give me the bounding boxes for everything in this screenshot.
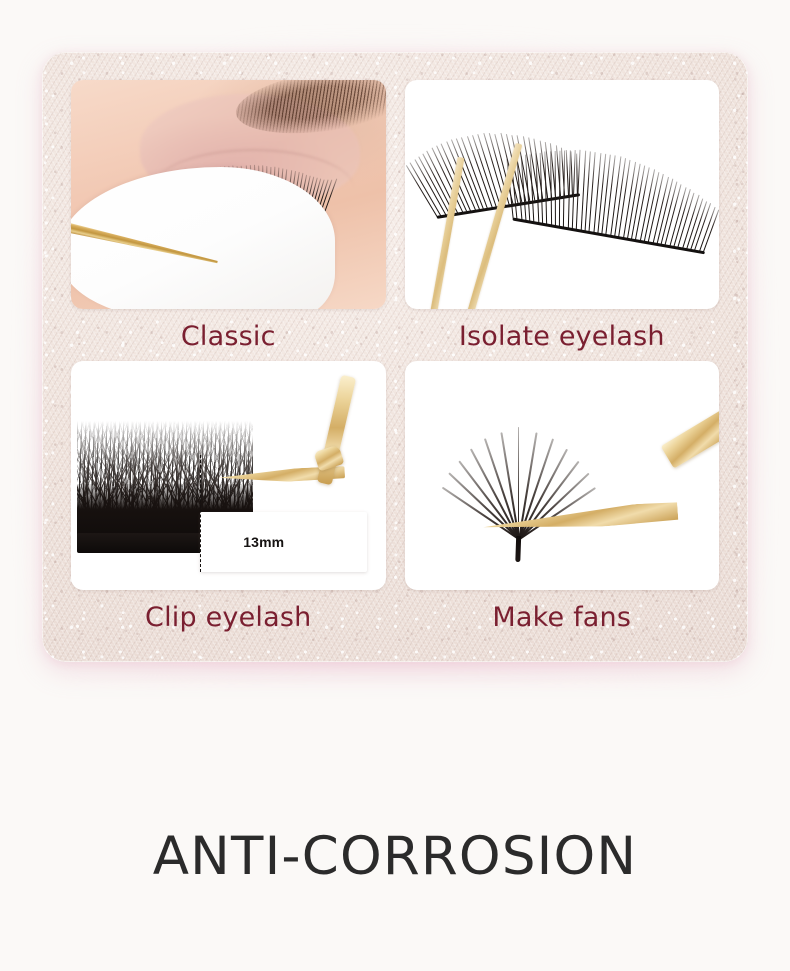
feature-cell-clip-eyelash[interactable]: 13mm Clip eyelash: [71, 361, 386, 642]
lash-hair: [441, 487, 518, 540]
lash-strips-with-bamboo-sticks-photo: [405, 80, 720, 309]
lash-hair: [572, 150, 576, 229]
lash-hair: [563, 150, 566, 227]
lash-hair: [530, 154, 535, 222]
lash-hair: [535, 153, 539, 223]
lash-strip-lower: [512, 139, 718, 254]
lash-hair: [576, 150, 581, 230]
tweezer-fan-shank: [661, 408, 719, 469]
feature-grid: Classic Isolate eyelash: [42, 52, 748, 662]
feature-label-make-fans: Make fans: [492, 590, 631, 642]
feature-cell-make-fans[interactable]: Make fans: [405, 361, 720, 642]
lash-fan-with-tweezer-photo: [405, 361, 720, 590]
lash-hair: [567, 150, 570, 228]
lash-hair: [554, 150, 556, 226]
feature-label-isolate-eyelash: Isolate eyelash: [459, 309, 665, 361]
fan-base-stem: [515, 536, 520, 562]
measurement-dashed-line: [200, 455, 201, 572]
page-headline: ANTI-CORROSION: [0, 828, 790, 886]
feature-label-classic: Classic: [181, 309, 276, 361]
eye-with-lash-extension-photo: [71, 80, 386, 309]
feature-panel: Classic Isolate eyelash: [42, 52, 748, 662]
feature-label-clip-eyelash: Clip eyelash: [145, 590, 311, 642]
feature-cell-classic[interactable]: Classic: [71, 80, 386, 361]
lash-tray-with-tweezer-photo: 13mm: [71, 361, 386, 590]
measurement-value: 13mm: [243, 534, 284, 550]
lash-hair: [539, 152, 543, 224]
lash-hair: [518, 461, 579, 540]
lash-hair: [549, 151, 551, 225]
measurement-callout-card: 13mm: [200, 512, 367, 572]
feature-cell-isolate-eyelash[interactable]: Isolate eyelash: [405, 80, 720, 361]
lash-hair: [458, 461, 519, 540]
lash-hair: [559, 150, 561, 227]
lash-hair: [544, 151, 547, 224]
